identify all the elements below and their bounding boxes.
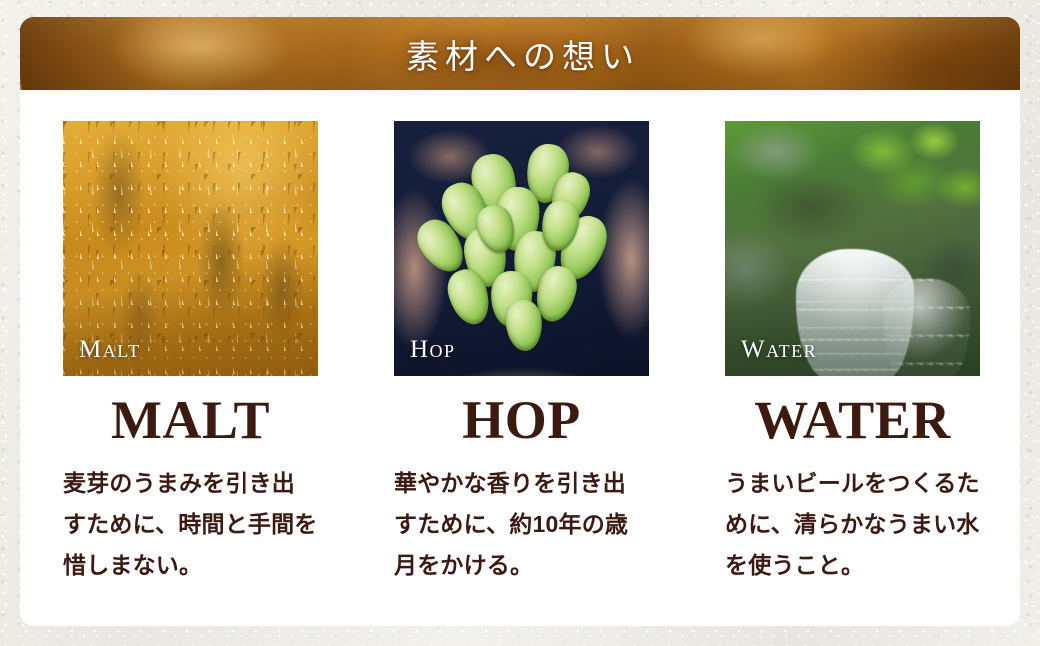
malt-photo-caption: Malt <box>79 336 141 364</box>
ingredient-card-water[interactable]: Water WATER うまいビールをつくるために、清らかなうまい水を使うこと。 <box>725 121 980 586</box>
water-title: WATER <box>725 392 980 449</box>
water-photo[interactable]: Water <box>725 121 980 376</box>
hop-photo[interactable]: Hop <box>394 121 649 376</box>
page-title: 素材への想い <box>20 17 1020 90</box>
water-photo-caption: Water <box>741 336 817 364</box>
ingredient-card-malt[interactable]: Malt MALT 麦芽のうまみを引き出すために、時間と手間を惜しまない。 <box>63 121 318 586</box>
malt-photo[interactable]: Malt <box>63 121 318 376</box>
waterfall-secondary <box>883 279 970 376</box>
ingredient-card-hop[interactable]: Hop HOP 華やかな香りを引き出すために、約10年の歳月をかける。 <box>394 121 649 586</box>
malt-description: 麦芽のうまみを引き出すために、時間と手間を惜しまない。 <box>63 463 318 586</box>
ingredients-columns: Malt MALT 麦芽のうまみを引き出すために、時間と手間を惜しまない。 <box>20 90 1020 586</box>
water-description: うまいビールをつくるために、清らかなうまい水を使うこと。 <box>725 463 980 586</box>
hop-title: HOP <box>394 392 649 449</box>
malt-title: MALT <box>63 392 318 449</box>
section-header: 素材への想い <box>20 17 1020 90</box>
hop-photo-caption: Hop <box>410 336 456 364</box>
hop-description: 華やかな香りを引き出すために、約10年の歳月をかける。 <box>394 463 649 586</box>
ingredients-card: 素材への想い Malt MALT 麦芽のうまみを引き出すために、時間と手間を惜し… <box>20 17 1020 626</box>
